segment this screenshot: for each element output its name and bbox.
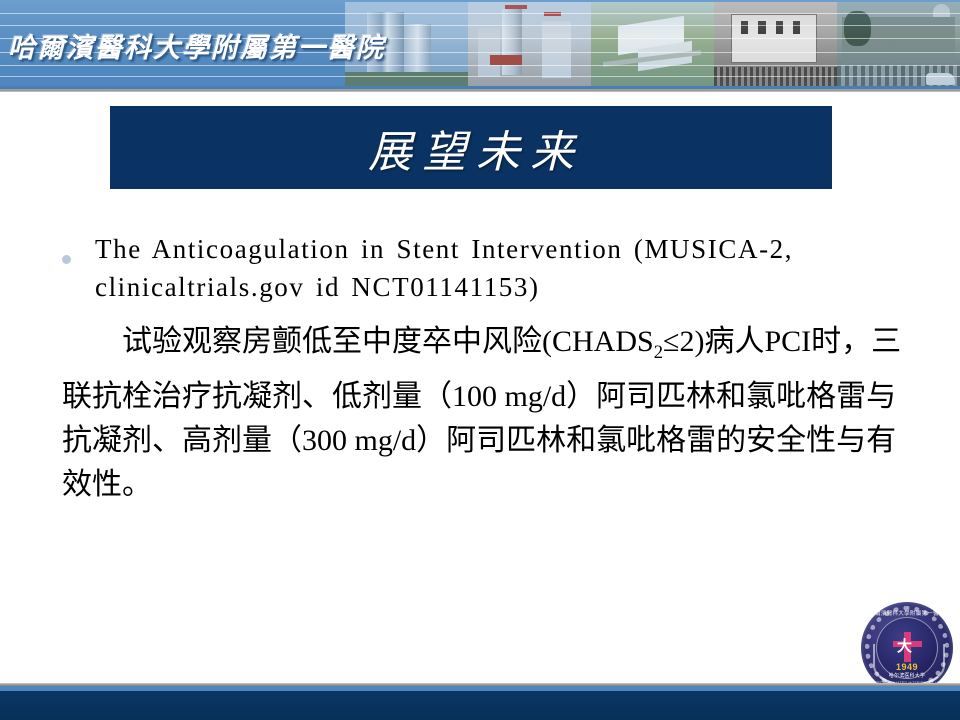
aerial-hospital-campus-photo xyxy=(591,2,714,87)
bullet-list-item: The Anticoagulation in Stent Interventio… xyxy=(0,230,960,306)
slide-title-box: 展望未来 xyxy=(110,106,832,189)
emblem-subtitle-cn: 哈尔滨医科大学 xyxy=(859,672,955,679)
chads-subscript: 2 xyxy=(654,342,663,363)
hospital-name-calligraphy: 哈爾濱醫科大學附屬第一醫院 xyxy=(8,26,385,65)
old-european-street-photo xyxy=(837,2,960,87)
footer-bar xyxy=(0,691,960,720)
bullet-dot-icon xyxy=(62,255,71,264)
paragraph-part-1: 试验观察房颤低至中度卒中风险(CHADS xyxy=(122,325,654,358)
historic-building-bw-photo xyxy=(714,2,837,87)
city-skyline-construction-photo xyxy=(468,2,591,87)
emblem-monogram-char: 大 xyxy=(897,635,912,656)
slide-content: The Anticoagulation in Stent Interventio… xyxy=(0,230,960,507)
header-photo-strip xyxy=(345,2,960,87)
hospital-emblem-logo: 哈爾濱醫科大學附屬第一醫院 大 1949 哈尔滨医科大学 THE FIRST A… xyxy=(859,600,955,696)
bullet-text: The Anticoagulation in Stent Interventio… xyxy=(95,230,900,306)
emblem-year: 1949 xyxy=(859,662,955,672)
slide-title: 展望未来 xyxy=(358,116,584,180)
emblem-monogram: 大 xyxy=(890,632,924,662)
header-divider-rule xyxy=(0,89,960,92)
hospital-header-banner: 哈爾濱醫科大學附屬第一醫院 xyxy=(0,0,960,89)
emblem-rim-text-cn: 哈爾濱醫科大學附屬第一醫院 xyxy=(859,609,955,617)
body-paragraph: 试验观察房颤低至中度卒中风险(CHADS2≤2)病人PCI时，三联抗栓治疗抗凝剂… xyxy=(0,320,960,507)
